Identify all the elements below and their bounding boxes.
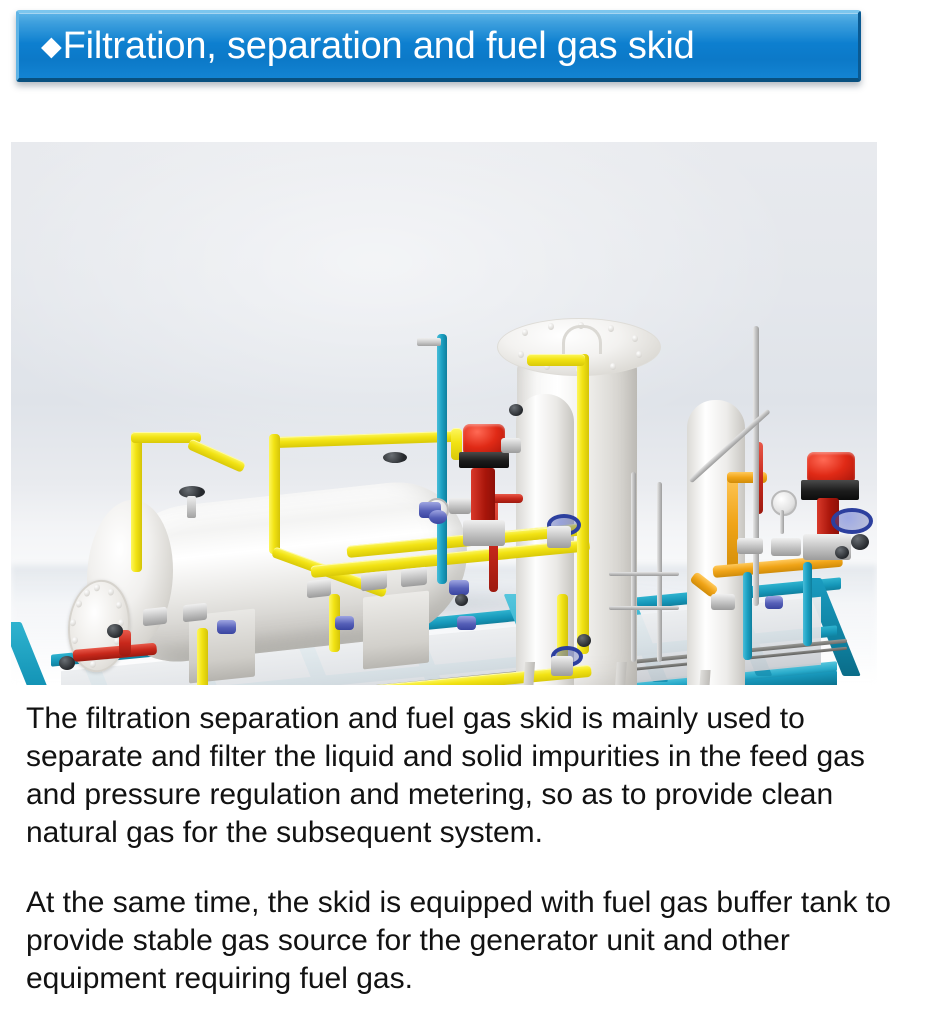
instrument-transmitter [765, 596, 783, 609]
hand-valve [455, 594, 468, 606]
yellow-pipe-riser-left [131, 432, 142, 572]
instrument-transmitter [457, 616, 476, 630]
paragraph-1: The filtration separation and fuel gas s… [26, 700, 912, 852]
drain-valve-cap [107, 624, 123, 638]
shell-nozzle-flange [449, 498, 471, 514]
valve-assembly-right [737, 538, 763, 554]
shell-nozzle-flange [307, 579, 331, 599]
yellow-pipe-downcomer [269, 434, 280, 554]
valve-end-cap [851, 534, 869, 550]
flange-bolt [94, 584, 100, 592]
orange-pipe-riser [727, 472, 738, 576]
instrument-tubing-cross [609, 572, 679, 576]
gauge-stem [780, 510, 784, 534]
handwheel-right [831, 508, 873, 534]
yellow-pipe-vertical-riser [577, 354, 589, 654]
product-render-image [11, 142, 877, 685]
teal-support-post [803, 562, 812, 646]
shell-nozzle-flange [183, 603, 207, 623]
shell-nozzle-flange [401, 567, 427, 588]
slide-body-text: The filtration separation and fuel gas s… [26, 700, 912, 998]
hand-valve [835, 546, 849, 559]
diamond-bullet-icon: ◆ [41, 31, 62, 61]
valve-assembly-right [771, 538, 801, 556]
instrument-transmitter [429, 510, 447, 524]
slide-title-banner: ◆Filtration, separation and fuel gas ski… [16, 10, 861, 82]
yellow-pipe-top-run [269, 431, 459, 449]
flange-bolt [72, 637, 78, 645]
lid-lifting-handle [562, 325, 602, 354]
flange-bolt [76, 600, 82, 608]
teal-vent-stack [437, 334, 447, 584]
instrument-tubing-vertical [753, 326, 759, 606]
drain-valve-cap [59, 656, 75, 670]
shell-nozzle-flange [361, 571, 387, 592]
control-valve-actuator-left [463, 424, 505, 454]
title-banner-surface: ◆Filtration, separation and fuel gas ski… [16, 10, 861, 82]
instrument-transmitter [335, 616, 354, 630]
paragraph-2: At the same time, the skid is equipped w… [26, 884, 912, 998]
nozzle-stub [187, 496, 196, 518]
vessel-nozzle [501, 438, 521, 453]
page-title: ◆Filtration, separation and fuel gas ski… [19, 27, 695, 65]
vessel-top-nozzle [383, 452, 407, 463]
actuator-yoke-right [801, 480, 859, 500]
valve-body-left [471, 468, 495, 522]
instrument-tubing [631, 472, 636, 662]
flange-bolt [636, 351, 642, 358]
flange-bolt [518, 351, 524, 358]
hand-valve [577, 634, 591, 647]
pressure-gauge-right [771, 490, 797, 516]
shell-nozzle-flange [143, 607, 167, 627]
yellow-pipe-low-riser [197, 628, 208, 685]
flange-bolt [610, 363, 616, 370]
valve-body-mid [547, 526, 571, 548]
hand-valve [509, 404, 523, 416]
flange-bolt [548, 323, 554, 330]
flange-bolt [522, 329, 528, 336]
vessel-nozzle [711, 594, 735, 610]
flange-bolt [84, 589, 90, 597]
flange-bolt [116, 601, 122, 609]
yellow-pipe-elbow-left [187, 438, 246, 472]
flange-bolt [608, 325, 614, 332]
instrument-transmitter [449, 580, 469, 595]
page-title-text: Filtration, separation and fuel gas skid [63, 25, 695, 67]
teal-support-post [743, 572, 752, 660]
vessel-saddle-support [363, 591, 429, 670]
valve-body-low [551, 656, 573, 676]
instrument-tubing-cross [609, 606, 679, 610]
vent-stack-cap [417, 338, 441, 346]
flange-bolt [632, 335, 638, 342]
yellow-pipe-top-elbow [527, 354, 585, 366]
flange-bolt [70, 619, 76, 627]
control-valve-actuator-right [807, 452, 855, 482]
flange-bolt [108, 588, 114, 596]
instrument-transmitter [217, 620, 236, 634]
flange-bolt [90, 660, 96, 668]
valve-flange-left [463, 520, 505, 546]
actuator-yoke-left [459, 452, 509, 468]
skid-3d-scene [11, 142, 877, 685]
